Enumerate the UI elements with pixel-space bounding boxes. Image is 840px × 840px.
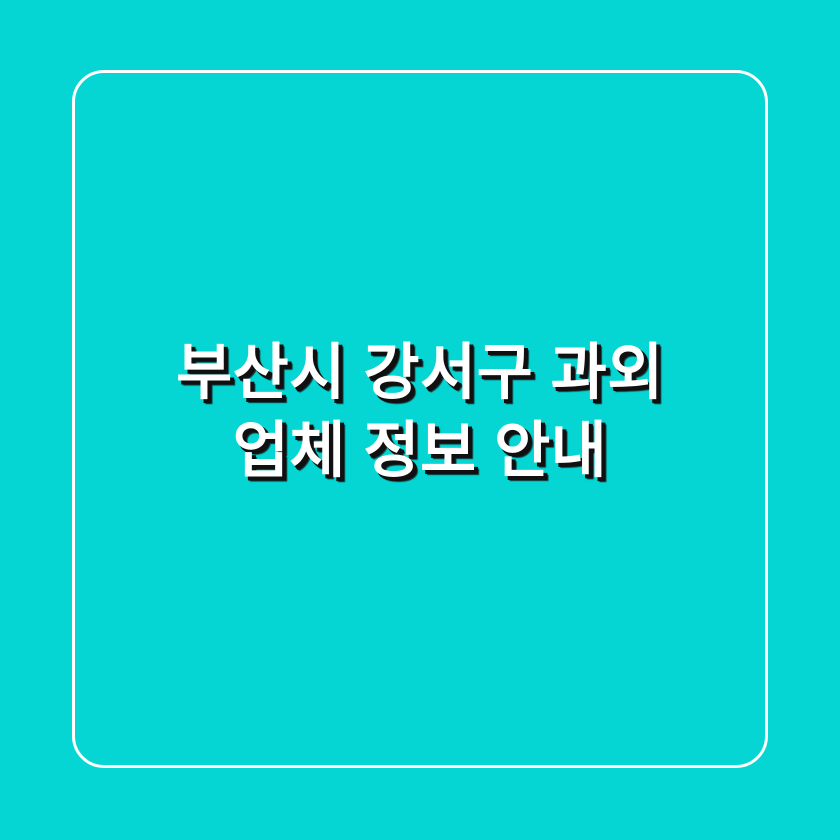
headline-line-1: 부산시 강서구 과외 (176, 333, 664, 411)
promo-card-canvas: 부산시 강서구 과외 업체 정보 안내 (0, 0, 840, 840)
headline-line-2: 업체 정보 안내 (233, 411, 608, 489)
headline-block: 부산시 강서구 과외 업체 정보 안내 (0, 0, 840, 831)
